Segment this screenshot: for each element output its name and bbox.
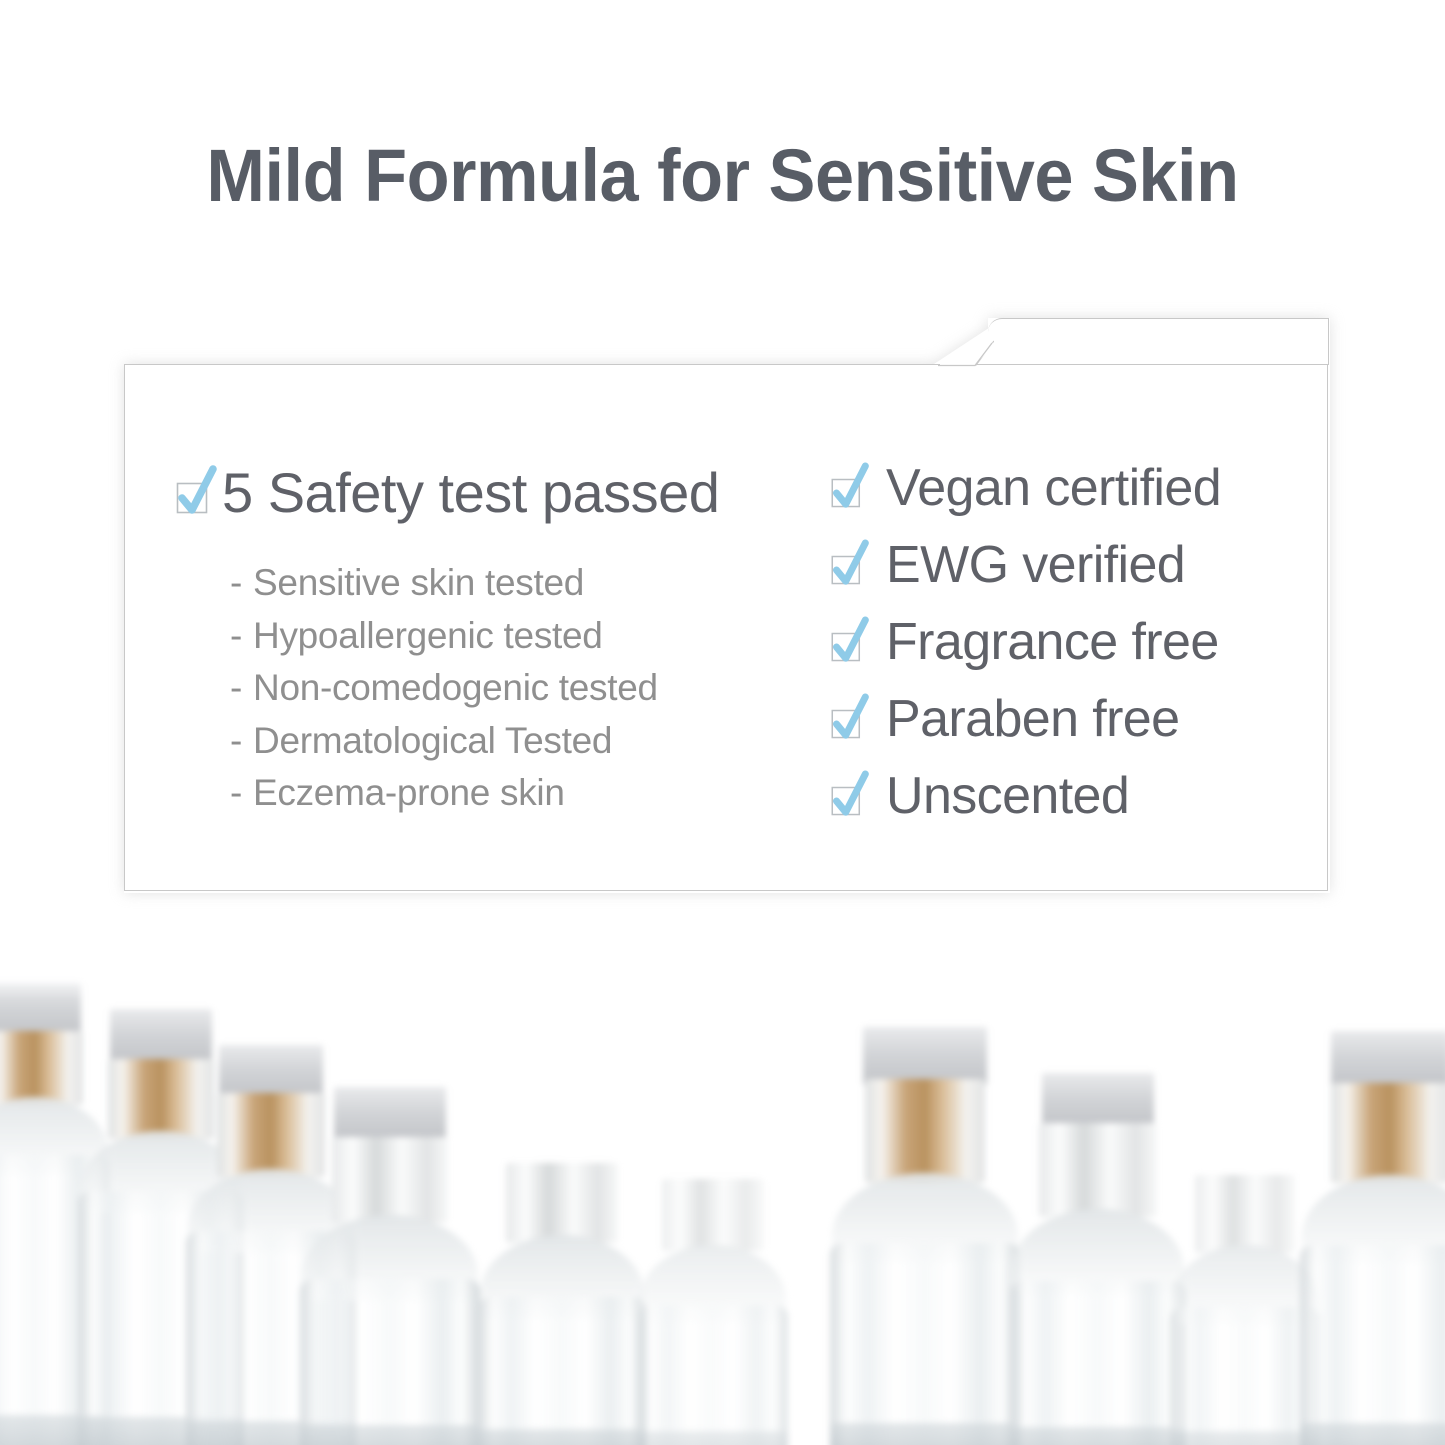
list-item-label: Eczema-prone skin <box>253 772 565 813</box>
claim-label: EWG verified <box>886 539 1185 591</box>
checkbox-checked-icon[interactable] <box>829 770 870 819</box>
list-item: -Eczema-prone skin <box>230 767 754 820</box>
list-dash: - <box>230 562 242 603</box>
list-dash: - <box>230 667 242 708</box>
right-column: Vegan certified EWG verified <box>754 364 1330 893</box>
checkbox-checked-icon[interactable] <box>829 539 870 588</box>
vial <box>830 1005 1020 1445</box>
list-item-label: Sensitive skin tested <box>253 562 584 603</box>
claim-row-vegan-certified[interactable]: Vegan certified <box>829 462 1330 514</box>
card-content: 5 Safety test passed -Sensitive skin tes… <box>114 364 1330 893</box>
photo-content <box>0 955 1445 1445</box>
claim-row-paraben-free[interactable]: Paraben free <box>829 693 1330 745</box>
list-item: -Non-comedogenic tested <box>230 662 754 715</box>
list-item-label: Hypoallergenic tested <box>253 615 603 656</box>
product-photo-vials <box>0 955 1445 1445</box>
features-card: 5 Safety test passed -Sensitive skin tes… <box>114 310 1330 900</box>
safety-test-sublist: -Sensitive skin tested -Hypoallergenic t… <box>230 557 754 820</box>
list-item-label: Non-comedogenic tested <box>253 667 658 708</box>
checkbox-checked-icon[interactable] <box>829 462 870 511</box>
checkbox-checked-icon[interactable] <box>829 693 870 742</box>
vial <box>1300 1005 1445 1445</box>
vial <box>1010 1035 1186 1445</box>
list-dash: - <box>230 615 242 656</box>
claim-row-ewg-verified[interactable]: EWG verified <box>829 539 1330 591</box>
list-item: -Dermatological Tested <box>230 715 754 768</box>
claim-label: Vegan certified <box>886 462 1221 514</box>
list-item-label: Dermatological Tested <box>253 720 612 761</box>
safety-test-headline-label: 5 Safety test passed <box>222 465 719 521</box>
list-dash: - <box>230 720 242 761</box>
list-item: -Sensitive skin tested <box>230 557 754 610</box>
vial <box>300 1035 480 1445</box>
claim-row-fragrance-free[interactable]: Fragrance free <box>829 616 1330 668</box>
checkbox-checked-icon[interactable] <box>174 465 218 517</box>
photo-top-fade <box>0 955 1445 999</box>
claim-row-unscented[interactable]: Unscented <box>829 770 1330 822</box>
list-dash: - <box>230 772 242 813</box>
claim-label: Paraben free <box>886 693 1179 745</box>
claim-label: Unscented <box>886 770 1129 822</box>
page-title: Mild Formula for Sensitive Skin <box>36 139 1409 213</box>
checkbox-checked-icon[interactable] <box>829 616 870 665</box>
left-column: 5 Safety test passed -Sensitive skin tes… <box>114 364 754 893</box>
list-item: -Hypoallergenic tested <box>230 610 754 663</box>
vial <box>638 1095 788 1445</box>
vial <box>478 1075 646 1445</box>
claim-label: Fragrance free <box>886 616 1219 668</box>
vial <box>1170 1075 1320 1445</box>
safety-test-headline-row[interactable]: 5 Safety test passed <box>174 465 754 521</box>
